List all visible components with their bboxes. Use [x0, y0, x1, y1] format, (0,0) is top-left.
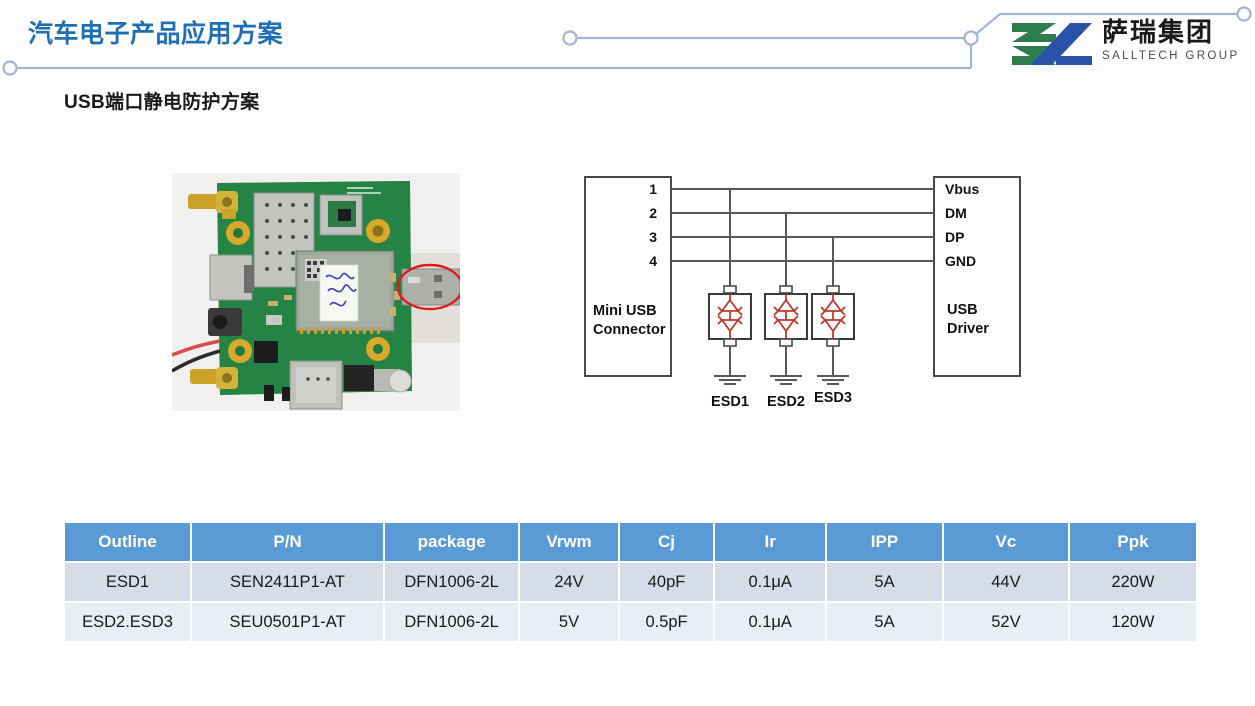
- usb-driver-label-line2: Driver: [947, 321, 989, 337]
- pcb-board-photo: [172, 173, 460, 411]
- col-header-cj: Cj: [619, 523, 715, 562]
- mini-usb-connector-block: 1 2 3 4 Mini USB Connector: [585, 177, 671, 376]
- usb-driver-block: Vbus DM DP GND USB Driver: [934, 177, 1020, 376]
- logo-name-en: SALLTECH GROUP: [1102, 49, 1248, 63]
- signal-wires: [671, 189, 934, 261]
- pin-label-4: 4: [649, 253, 657, 269]
- cell-vrwm: 5V: [519, 602, 619, 641]
- usb-esd-circuit-diagram: 1 2 3 4 Mini USB Connector Vbus DM DP GN…: [575, 168, 1045, 418]
- esd-spec-table: Outline P/N package Vrwm Cj Ir IPP Vc Pp…: [65, 523, 1196, 641]
- esd2-label: ESD2: [767, 394, 805, 410]
- cell-package: DFN1006-2L: [384, 562, 519, 602]
- signal-label-vbus: Vbus: [945, 181, 979, 197]
- logo-text-block: 萨瑞集团 SALLTECH GROUP: [1102, 16, 1248, 63]
- esd3-branch: ESD3: [812, 237, 854, 406]
- cell-ppk: 120W: [1069, 602, 1196, 641]
- signal-label-gnd: GND: [945, 253, 976, 269]
- esd3-label: ESD3: [814, 390, 852, 406]
- cell-ipp: 5A: [826, 562, 943, 602]
- cell-cj: 40pF: [619, 562, 715, 602]
- section-subtitle: USB端口静电防护方案: [64, 87, 259, 114]
- pin-label-2: 2: [649, 205, 657, 221]
- cell-vrwm: 24V: [519, 562, 619, 602]
- mini-usb-label-line2: Connector: [593, 322, 666, 338]
- table-row: ESD1 SEN2411P1-AT DFN1006-2L 24V 40pF 0.…: [65, 562, 1196, 602]
- esd2-branch: ESD2: [765, 213, 807, 410]
- col-header-ir: Ir: [714, 523, 826, 562]
- company-logo: 萨瑞集团 SALLTECH GROUP: [1010, 16, 1248, 74]
- page-title: 汽车电子产品应用方案: [28, 14, 283, 50]
- col-header-ipp: IPP: [826, 523, 943, 562]
- pin-label-1: 1: [649, 181, 657, 197]
- cell-ir: 0.1μA: [714, 602, 826, 641]
- usb-driver-label-line1: USB: [947, 302, 978, 318]
- deco-node-right: [965, 32, 978, 45]
- cell-cj: 0.5pF: [619, 602, 715, 641]
- cell-ir: 0.1μA: [714, 562, 826, 602]
- signal-label-dm: DM: [945, 205, 967, 221]
- esd1-branch: ESD1: [709, 189, 751, 410]
- table-row: ESD2.ESD3 SEU0501P1-AT DFN1006-2L 5V 0.5…: [65, 602, 1196, 641]
- col-header-outline: Outline: [65, 523, 191, 562]
- deco-node-far-left: [4, 62, 17, 75]
- cell-ppk: 220W: [1069, 562, 1196, 602]
- cell-outline: ESD1: [65, 562, 191, 602]
- cell-pn: SEN2411P1-AT: [191, 562, 384, 602]
- cell-vc: 52V: [943, 602, 1069, 641]
- cell-ipp: 5A: [826, 602, 943, 641]
- signal-label-dp: DP: [945, 229, 964, 245]
- col-header-vc: Vc: [943, 523, 1069, 562]
- col-header-pn: P/N: [191, 523, 384, 562]
- cell-package: DFN1006-2L: [384, 602, 519, 641]
- esd1-label: ESD1: [711, 394, 749, 410]
- cell-pn: SEU0501P1-AT: [191, 602, 384, 641]
- table-header-row: Outline P/N package Vrwm Cj Ir IPP Vc Pp…: [65, 523, 1196, 562]
- salltech-logo-icon: [1010, 20, 1094, 68]
- deco-node-left: [564, 32, 577, 45]
- pin-label-3: 3: [649, 229, 657, 245]
- cell-vc: 44V: [943, 562, 1069, 602]
- mini-usb-label-line1: Mini USB: [593, 303, 657, 319]
- logo-name-cn: 萨瑞集团: [1102, 16, 1248, 48]
- col-header-ppk: Ppk: [1069, 523, 1196, 562]
- cell-outline: ESD2.ESD3: [65, 602, 191, 641]
- col-header-vrwm: Vrwm: [519, 523, 619, 562]
- col-header-package: package: [384, 523, 519, 562]
